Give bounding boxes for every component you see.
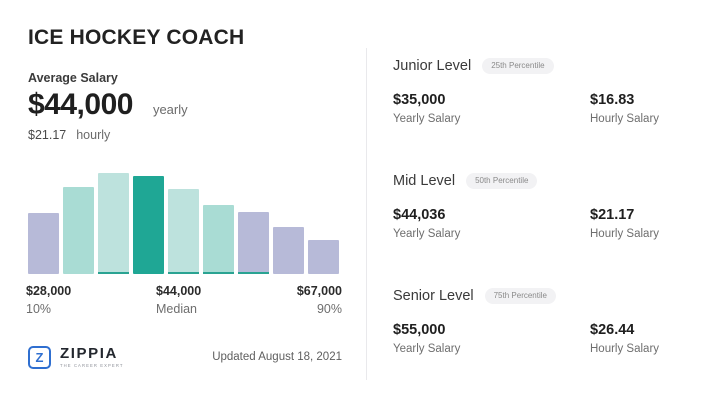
footer: Z ZIPPIA THE CAREER EXPERT Updated Augus… [28, 346, 342, 374]
chart-bar [168, 189, 199, 274]
hourly-salary-value: $26.44 [590, 322, 659, 338]
level-stats: $44,036Yearly Salary$21.17Hourly Salary [393, 207, 693, 240]
page-title: ICE HOCKEY COACH [28, 26, 348, 49]
experience-level-block: Junior Level25th Percentile$35,000Yearly… [393, 58, 693, 173]
panel-divider [366, 48, 367, 380]
chart-bar-underline [98, 272, 129, 274]
chart-bars [28, 170, 340, 274]
chart-bar [63, 187, 94, 274]
chart-bar [98, 173, 129, 274]
average-salary-yearly-period: yearly [153, 102, 188, 117]
chart-bar [28, 213, 59, 274]
experience-level-block: Mid Level50th Percentile$44,036Yearly Sa… [393, 173, 693, 288]
axis-label-low: $28,000 10% [26, 284, 71, 316]
zippia-logo[interactable]: Z ZIPPIA THE CAREER EXPERT [28, 346, 124, 369]
average-salary-label: Average Salary [28, 71, 348, 85]
chart-bar [308, 240, 339, 274]
left-panel: ICE HOCKEY COACH Average Salary $44,000 … [28, 26, 348, 142]
level-name: Mid Level [393, 173, 455, 189]
chart-bar-underline [238, 272, 269, 274]
level-header: Senior Level75th Percentile [393, 288, 693, 304]
percentile-badge: 25th Percentile [482, 58, 553, 74]
updated-date: Updated August 18, 2021 [212, 351, 342, 363]
yearly-salary-label: Yearly Salary [393, 228, 590, 240]
chart-bar [133, 176, 164, 274]
chart-bar [203, 205, 234, 274]
yearly-salary-value: $44,036 [393, 207, 590, 223]
zippia-brand-name: ZIPPIA [60, 346, 124, 361]
level-stats: $35,000Yearly Salary$16.83Hourly Salary [393, 92, 693, 125]
average-salary-hourly-period: hourly [76, 128, 110, 142]
level-name: Senior Level [393, 288, 474, 304]
average-salary-yearly-amount: $44,000 [28, 89, 133, 121]
percentile-badge: 50th Percentile [466, 173, 537, 189]
level-name: Junior Level [393, 58, 471, 74]
experience-level-block: Senior Level75th Percentile$55,000Yearly… [393, 288, 693, 403]
level-header: Mid Level50th Percentile [393, 173, 693, 189]
axis-label-median: $44,000 Median [156, 284, 201, 316]
hourly-salary-label: Hourly Salary [590, 113, 659, 125]
axis-low-sub: 10% [26, 302, 71, 316]
yearly-salary-stat: $35,000Yearly Salary [393, 92, 590, 125]
average-salary-hourly-amount: $21.17 [28, 128, 66, 142]
zippia-wordmark: ZIPPIA THE CAREER EXPERT [60, 346, 124, 368]
yearly-salary-value: $35,000 [393, 92, 590, 108]
average-salary-yearly-row: $44,000 yearly [28, 89, 348, 121]
axis-high-value: $67,000 [297, 284, 342, 298]
axis-mid-value: $44,000 [156, 284, 201, 298]
yearly-salary-stat: $44,036Yearly Salary [393, 207, 590, 240]
level-stats: $55,000Yearly Salary$26.44Hourly Salary [393, 322, 693, 355]
hourly-salary-label: Hourly Salary [590, 228, 659, 240]
axis-mid-sub: Median [156, 302, 201, 316]
axis-low-value: $28,000 [26, 284, 71, 298]
yearly-salary-stat: $55,000Yearly Salary [393, 322, 590, 355]
yearly-salary-label: Yearly Salary [393, 113, 590, 125]
hourly-salary-value: $21.17 [590, 207, 659, 223]
level-header: Junior Level25th Percentile [393, 58, 693, 74]
axis-high-sub: 90% [297, 302, 342, 316]
hourly-salary-stat: $26.44Hourly Salary [590, 322, 659, 355]
hourly-salary-stat: $21.17Hourly Salary [590, 207, 659, 240]
hourly-salary-label: Hourly Salary [590, 343, 659, 355]
hourly-salary-stat: $16.83Hourly Salary [590, 92, 659, 125]
chart-bar-underline [203, 272, 234, 274]
chart-bar [273, 227, 304, 274]
zippia-brand-tagline: THE CAREER EXPERT [60, 364, 124, 368]
salary-distribution-chart [28, 170, 340, 274]
chart-axis-labels: $28,000 10% $44,000 Median $67,000 90% [26, 284, 342, 320]
yearly-salary-value: $55,000 [393, 322, 590, 338]
hourly-salary-value: $16.83 [590, 92, 659, 108]
zippia-mark-icon: Z [28, 346, 51, 369]
experience-levels-panel: Junior Level25th Percentile$35,000Yearly… [393, 58, 693, 403]
zippia-z-glyph: Z [36, 351, 44, 364]
average-salary-hourly-row: $21.17 hourly [28, 128, 348, 142]
salary-card: ICE HOCKEY COACH Average Salary $44,000 … [0, 0, 720, 404]
axis-label-high: $67,000 90% [297, 284, 342, 316]
chart-bar-underline [168, 272, 199, 274]
chart-bar [238, 212, 269, 274]
yearly-salary-label: Yearly Salary [393, 343, 590, 355]
percentile-badge: 75th Percentile [485, 288, 556, 304]
